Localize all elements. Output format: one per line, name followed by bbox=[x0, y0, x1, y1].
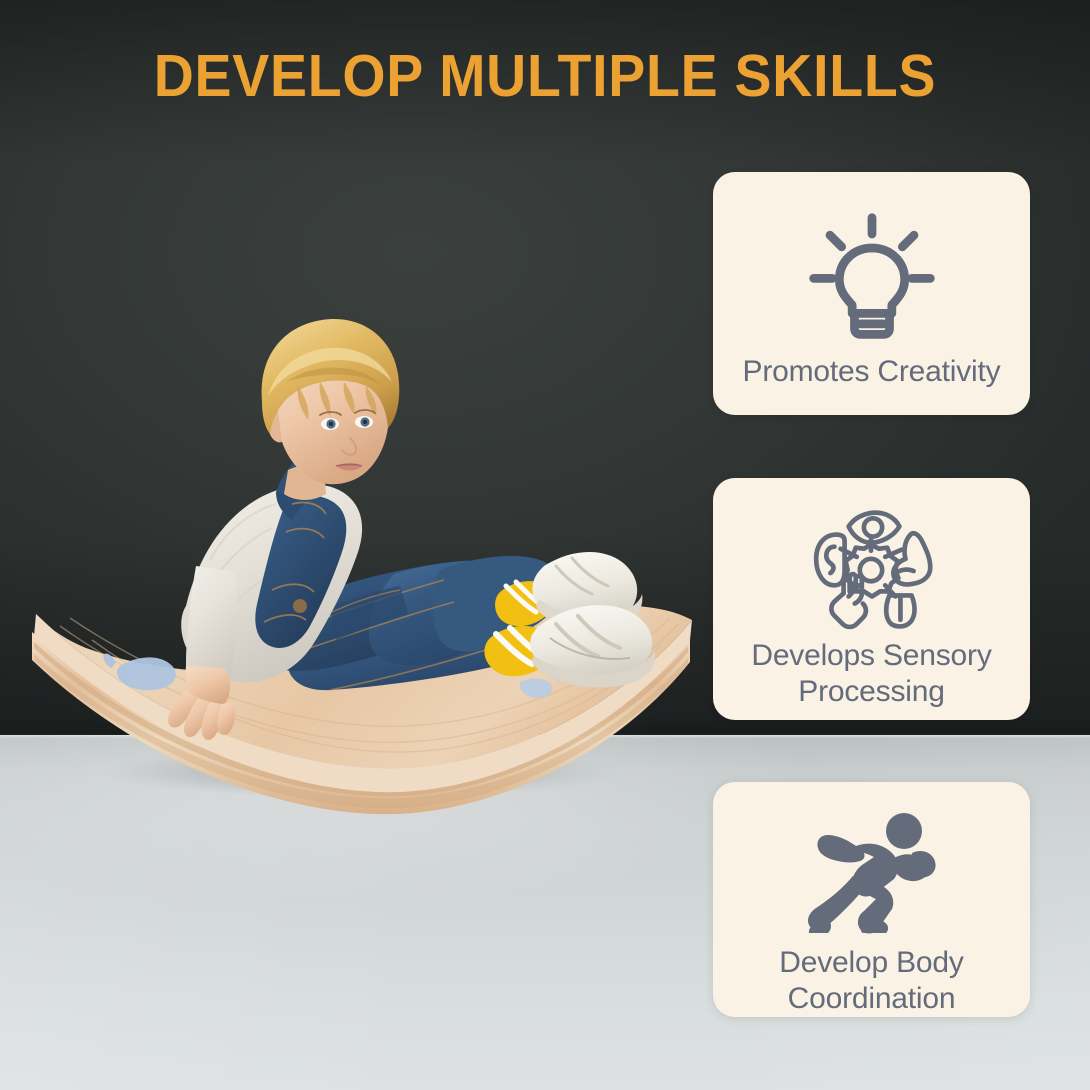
feature-card-label: Develop Body Coordination bbox=[713, 945, 1030, 1017]
feature-card-develop-body-coordination[interactable]: Develop Body Coordination bbox=[713, 782, 1030, 1017]
page-title: DEVELOP MULTIPLE SKILLS bbox=[33, 44, 1058, 108]
feature-card-promotes-creativity[interactable]: Promotes Creativity bbox=[713, 172, 1030, 415]
feature-card-list: Promotes Creativity bbox=[713, 172, 1030, 1017]
product-feature-banner: DEVELOP MULTIPLE SKILLS Promotes Creativ… bbox=[0, 0, 1090, 1090]
feature-card-label: Develops Sensory Processing bbox=[713, 638, 1030, 710]
feature-card-label: Promotes Creativity bbox=[731, 354, 1013, 390]
running-person-icon bbox=[804, 808, 940, 935]
lightbulb-icon bbox=[802, 206, 942, 346]
feature-card-develops-sensory-processing[interactable]: Develops Sensory Processing bbox=[713, 478, 1030, 720]
five-senses-icon bbox=[792, 500, 952, 632]
